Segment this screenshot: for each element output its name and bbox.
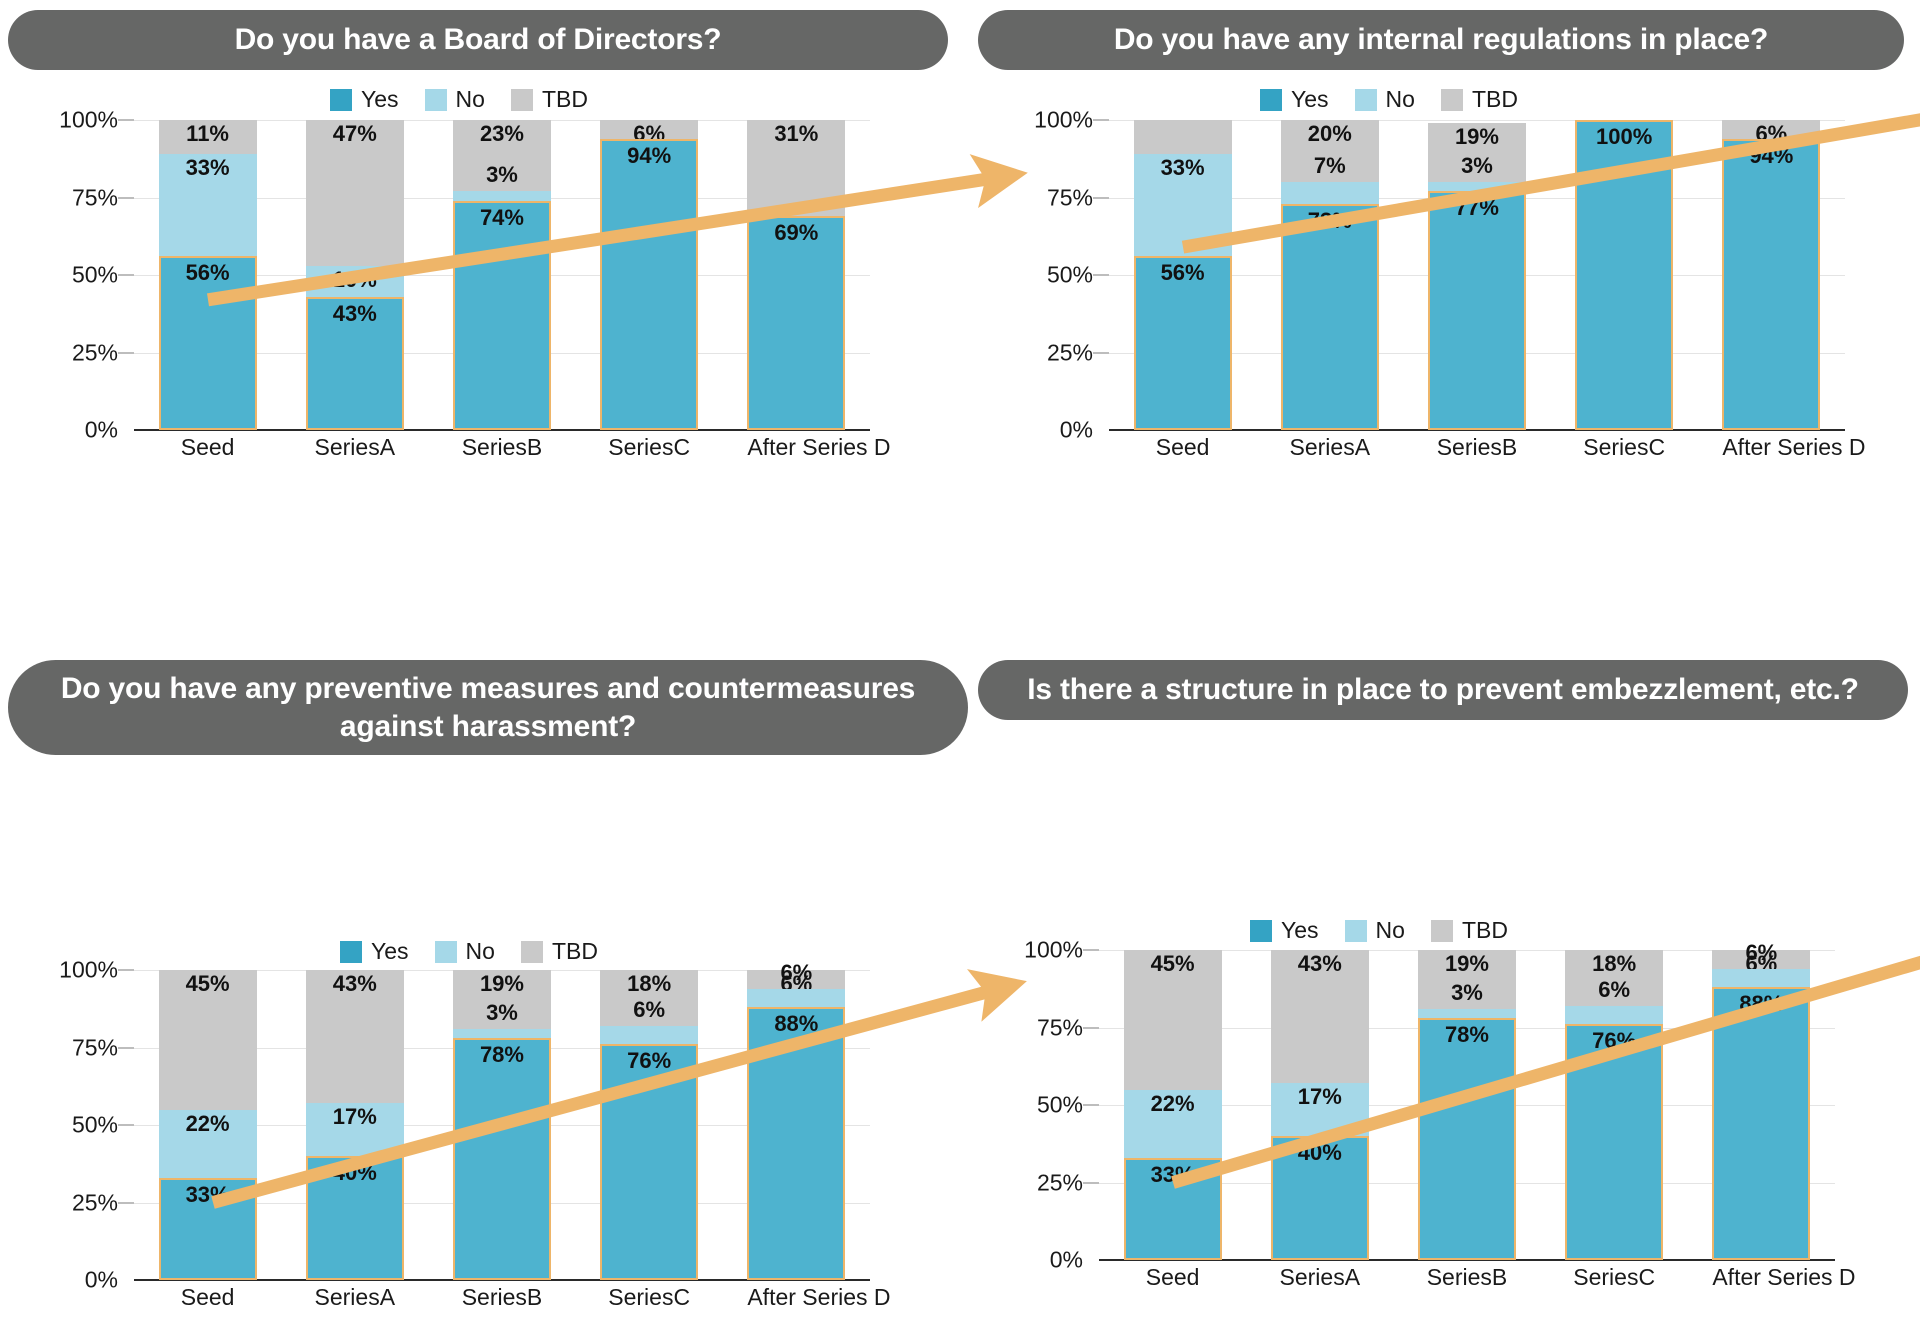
x-axis-tick-label: After Series D — [747, 1284, 845, 1311]
survey-dashboard: Do you have a Board of Directors? Yes No… — [0, 0, 1920, 1342]
bar-column[interactable]: 19%3%78% — [1418, 950, 1516, 1260]
bar-segment-no[interactable]: 22% — [1124, 1090, 1222, 1158]
bar-segment-label: 23% — [480, 123, 524, 145]
bar-segment-no[interactable]: 6% — [600, 1026, 698, 1045]
bar-segment-yes[interactable]: 69% — [747, 216, 845, 430]
x-axis-tick-label: After Series D — [1722, 434, 1820, 461]
y-axis-tick-mark — [118, 274, 134, 276]
bar-segment-label: 31% — [774, 123, 818, 145]
x-axis-tick-label: SeriesB — [453, 1284, 551, 1311]
bar-segment-no[interactable]: 3% — [453, 191, 551, 200]
bar-segment-no[interactable]: 3% — [1418, 1009, 1516, 1018]
legend-item-no[interactable]: No — [1355, 86, 1415, 113]
y-axis-tick-mark — [1083, 1027, 1099, 1029]
y-axis-tick-mark — [118, 969, 134, 971]
grid-area: 45%22%33%43%17%40%19%3%78%18%6%76%6%6%88… — [134, 970, 870, 1280]
bar-segment-tbd[interactable]: 47% — [306, 120, 404, 266]
y-axis-tick-mark — [118, 197, 134, 199]
bar-segment-label: 56% — [186, 262, 230, 284]
bar-segment-label: 77% — [1455, 197, 1499, 219]
panel-title-3: Is there a structure in place to prevent… — [978, 660, 1908, 720]
x-axis-tick-label: SeriesC — [1565, 1264, 1663, 1291]
y-axis-tick-mark — [1083, 1104, 1099, 1106]
legend-item-yes[interactable]: Yes — [1250, 917, 1319, 944]
bar-segment-label: 22% — [186, 1113, 230, 1135]
legend-item-yes[interactable]: Yes — [330, 86, 399, 113]
y-axis-tick-mark — [118, 1202, 134, 1204]
bar-segment-label: 78% — [480, 1044, 524, 1066]
y-axis: 0%25%50%75%100% — [40, 120, 130, 430]
chart-panel-embezzlement-prevention: Is there a structure in place to prevent… — [960, 660, 1920, 1342]
bar-segment-no[interactable]: 10% — [306, 266, 404, 297]
bar-segment-label: 18% — [1592, 953, 1636, 975]
grid-area: 33%56%20%7%73%19%3%77%100%6%94% — [1109, 120, 1845, 430]
plot-area-2: 0%25%50%75%100%45%22%33%43%17%40%19%3%78… — [40, 970, 870, 1330]
bar-segment-no[interactable]: 6% — [1712, 969, 1810, 988]
y-axis-tick-mark — [1093, 352, 1109, 354]
bar-group: 45%22%33%43%17%40%19%3%78%18%6%76%6%6%88… — [134, 970, 870, 1280]
bar-segment-yes[interactable]: 94% — [1722, 139, 1820, 430]
bar-group: 33%56%20%7%73%19%3%77%100%6%94% — [1109, 120, 1845, 430]
panel-title-1: Do you have any internal regulations in … — [978, 10, 1904, 70]
legend-0: Yes No TBD — [330, 86, 588, 113]
bar-segment-tbd[interactable]: 6% — [600, 120, 698, 139]
bar-segment-label: 33% — [1161, 157, 1205, 179]
x-axis-tick-label: SeriesA — [1281, 434, 1379, 461]
grid-area: 45%22%33%43%17%40%19%3%78%18%6%76%6%6%88… — [1099, 950, 1835, 1260]
legend-swatch-yes-icon — [1250, 920, 1272, 942]
bar-segment-no[interactable]: 17% — [1271, 1083, 1369, 1136]
bar-column[interactable]: 45%22%33% — [1124, 950, 1222, 1260]
x-axis-tick-label: Seed — [159, 1284, 257, 1311]
x-axis-tick-label: SeriesA — [306, 434, 404, 461]
bar-segment-label: 3% — [486, 1002, 518, 1024]
bar-segment-label: 40% — [1298, 1142, 1342, 1164]
bar-segment-yes[interactable]: 56% — [1134, 256, 1232, 430]
bar-segment-label: 20% — [1308, 123, 1352, 145]
bar-column[interactable]: 6%6%88% — [1712, 950, 1810, 1260]
bar-segment-tbd[interactable]: 43% — [306, 970, 404, 1103]
bar-segment-no[interactable]: 17% — [306, 1103, 404, 1156]
legend-label-tbd: TBD — [1472, 86, 1518, 113]
legend-item-no[interactable]: No — [425, 86, 485, 113]
bar-column[interactable]: 43%17%40% — [306, 970, 404, 1280]
plot-area-0: 0%25%50%75%100%11%33%56%47%10%43%23%3%74… — [40, 120, 870, 480]
bar-segment-yes[interactable]: 88% — [747, 1007, 845, 1280]
legend-swatch-yes-icon — [340, 941, 362, 963]
x-axis: SeedSeriesASeriesBSeriesCAfter Series D — [134, 434, 870, 461]
x-axis-tick-label: After Series D — [1712, 1264, 1810, 1291]
bar-segment-label: 6% — [633, 999, 665, 1021]
legend-label-yes: Yes — [1291, 86, 1329, 113]
bar-segment-label: 94% — [1749, 145, 1793, 167]
legend-swatch-yes-icon — [1260, 89, 1282, 111]
bar-column[interactable]: 19%3%78% — [453, 970, 551, 1280]
x-axis-tick-label: SeriesB — [453, 434, 551, 461]
bar-segment-label: 22% — [1151, 1093, 1195, 1115]
legend-item-no[interactable]: No — [435, 938, 495, 965]
legend-3: Yes No TBD — [1250, 917, 1508, 944]
bar-segment-yes[interactable]: 77% — [1428, 191, 1526, 430]
chart-panel-harassment-measures: Do you have any preventive measures and … — [0, 660, 960, 1342]
y-axis-tick-label: 50% — [72, 1112, 118, 1139]
bar-segment-label: 33% — [186, 1184, 230, 1206]
legend-item-yes[interactable]: Yes — [340, 938, 409, 965]
bar-segment-label: 19% — [1455, 126, 1499, 148]
legend-swatch-tbd-icon — [511, 89, 533, 111]
bar-segment-label: 3% — [1451, 982, 1483, 1004]
bar-column[interactable]: 6%94% — [1722, 120, 1820, 430]
y-axis-tick-label: 100% — [59, 107, 118, 134]
legend-swatch-tbd-icon — [521, 941, 543, 963]
grid-area: 11%33%56%47%10%43%23%3%74%6%94%31%69% — [134, 120, 870, 430]
bar-segment-label: 33% — [186, 157, 230, 179]
x-axis: SeedSeriesASeriesBSeriesCAfter Series D — [134, 1284, 870, 1311]
y-axis-tick-label: 0% — [1060, 417, 1093, 444]
x-axis-tick-label: SeriesC — [600, 434, 698, 461]
bar-segment-yes[interactable]: 56% — [159, 256, 257, 430]
bar-segment-label: 40% — [333, 1162, 377, 1184]
bar-segment-label: 78% — [1445, 1024, 1489, 1046]
legend-item-tbd[interactable]: TBD — [521, 938, 598, 965]
bar-segment-tbd[interactable]: 31% — [747, 120, 845, 216]
bar-segment-label: 45% — [1151, 953, 1195, 975]
bar-segment-label: 88% — [1739, 993, 1783, 1015]
legend-item-no[interactable]: No — [1345, 917, 1405, 944]
y-axis-tick-label: 50% — [72, 262, 118, 289]
bar-segment-yes[interactable]: 76% — [1565, 1024, 1663, 1260]
y-axis-tick-label: 25% — [72, 339, 118, 366]
bar-segment-label: 56% — [1161, 262, 1205, 284]
legend-label-no: No — [456, 86, 485, 113]
bar-segment-label: 76% — [1592, 1030, 1636, 1052]
bar-segment-label: 33% — [1151, 1164, 1195, 1186]
legend-item-yes[interactable]: Yes — [1260, 86, 1329, 113]
legend-label-no: No — [1386, 86, 1415, 113]
x-axis-tick-label: Seed — [1134, 434, 1232, 461]
bar-column[interactable]: 47%10%43% — [306, 120, 404, 430]
panel-title-0: Do you have a Board of Directors? — [8, 10, 948, 70]
legend-label-no: No — [1376, 917, 1405, 944]
x-axis: SeedSeriesASeriesBSeriesCAfter Series D — [1099, 1264, 1835, 1291]
bar-column[interactable]: 20%7%73% — [1281, 120, 1379, 430]
bar-segment-yes[interactable]: 43% — [306, 297, 404, 430]
y-axis-tick-mark — [118, 1047, 134, 1049]
y-axis-tick-mark — [1093, 274, 1109, 276]
bar-segment-tbd[interactable]: 6% — [1722, 120, 1820, 139]
bar-segment-label: 43% — [333, 303, 377, 325]
legend-swatch-tbd-icon — [1441, 89, 1463, 111]
panel-title-2: Do you have any preventive measures and … — [8, 660, 968, 755]
bar-column[interactable]: 33%56% — [1134, 120, 1232, 430]
legend-swatch-no-icon — [1355, 89, 1377, 111]
y-axis-tick-label: 0% — [1050, 1247, 1083, 1274]
bar-column[interactable]: 100% — [1575, 120, 1673, 430]
bar-segment-label: 17% — [1298, 1086, 1342, 1108]
bar-segment-label: 45% — [186, 973, 230, 995]
bar-segment-no[interactable]: 6% — [747, 989, 845, 1008]
x-axis-tick-label: SeriesC — [600, 1284, 698, 1311]
bar-segment-tbd[interactable]: 45% — [159, 970, 257, 1110]
bar-group: 45%22%33%43%17%40%19%3%78%18%6%76%6%6%88… — [1099, 950, 1835, 1260]
y-axis-tick-mark — [118, 352, 134, 354]
y-axis-tick-mark — [1083, 949, 1099, 951]
bar-segment-label: 47% — [333, 123, 377, 145]
y-axis-tick-label: 100% — [59, 957, 118, 984]
bar-segment-label: 74% — [480, 207, 524, 229]
bar-segment-label: 19% — [480, 973, 524, 995]
bar-segment-label: 6% — [1598, 979, 1630, 1001]
y-axis-tick-label: 100% — [1034, 107, 1093, 134]
y-axis-tick-label: 0% — [85, 1267, 118, 1294]
y-axis-tick-label: 100% — [1024, 937, 1083, 964]
bar-segment-no[interactable]: 6% — [1565, 1006, 1663, 1025]
bar-column[interactable]: 6%94% — [600, 120, 698, 430]
x-axis-tick-label: SeriesB — [1418, 1264, 1516, 1291]
bar-segment-no[interactable]: 33% — [1134, 154, 1232, 256]
y-axis-tick-label: 25% — [1047, 339, 1093, 366]
bar-segment-label: 73% — [1308, 210, 1352, 232]
bar-group: 11%33%56%47%10%43%23%3%74%6%94%31%69% — [134, 120, 870, 430]
y-axis-tick-label: 0% — [85, 417, 118, 444]
y-axis-tick-label: 75% — [1037, 1014, 1083, 1041]
chart-panel-internal-regulations: Do you have any internal regulations in … — [960, 0, 1920, 600]
bar-segment-tbd[interactable]: 43% — [1271, 950, 1369, 1083]
legend-label-tbd: TBD — [1462, 917, 1508, 944]
bar-segment-label: 3% — [1461, 155, 1493, 177]
bar-segment-yes[interactable]: 76% — [600, 1044, 698, 1280]
legend-label-yes: Yes — [371, 938, 409, 965]
plot-area-3: 0%25%50%75%100%45%22%33%43%17%40%19%3%78… — [1005, 950, 1835, 1310]
y-axis: 0%25%50%75%100% — [40, 970, 130, 1280]
y-axis-tick-label: 75% — [1047, 184, 1093, 211]
y-axis-tick-mark — [1093, 197, 1109, 199]
bar-column[interactable]: 6%6%88% — [747, 970, 845, 1280]
bar-segment-no[interactable]: 7% — [1281, 182, 1379, 204]
y-axis-tick-label: 75% — [72, 1034, 118, 1061]
bar-segment-label: 88% — [774, 1013, 818, 1035]
bar-segment-label: 6% — [780, 962, 812, 984]
bar-segment-no[interactable]: 3% — [453, 1029, 551, 1038]
bar-segment-tbd[interactable]: 45% — [1124, 950, 1222, 1090]
legend-swatch-no-icon — [435, 941, 457, 963]
y-axis: 0%25%50%75%100% — [1005, 950, 1095, 1260]
bar-segment-no[interactable]: 33% — [159, 154, 257, 256]
legend-swatch-tbd-icon — [1431, 920, 1453, 942]
bar-segment-label: 94% — [627, 145, 671, 167]
bar-segment-yes[interactable]: 40% — [1271, 1136, 1369, 1260]
x-axis-tick-label: SeriesB — [1428, 434, 1526, 461]
bar-segment-label: 43% — [333, 973, 377, 995]
bar-segment-yes[interactable]: 33% — [159, 1178, 257, 1280]
bar-segment-no[interactable]: 22% — [159, 1110, 257, 1178]
plot-area-1: 0%25%50%75%100%33%56%20%7%73%19%3%77%100… — [1015, 120, 1845, 480]
x-axis-tick-label: SeriesA — [1271, 1264, 1369, 1291]
bar-segment-label: 6% — [1745, 942, 1777, 964]
legend-label-tbd: TBD — [552, 938, 598, 965]
bar-column[interactable]: 11%33%56% — [159, 120, 257, 430]
bar-segment-label: 19% — [1445, 953, 1489, 975]
x-axis: SeedSeriesASeriesBSeriesCAfter Series D — [1109, 434, 1845, 461]
y-axis-tick-mark — [1093, 119, 1109, 121]
bar-segment-no[interactable]: 3% — [1428, 182, 1526, 191]
x-axis-tick-label: Seed — [159, 434, 257, 461]
bar-segment-tbd[interactable] — [1134, 120, 1232, 154]
y-axis-tick-mark — [118, 119, 134, 121]
bar-segment-yes[interactable]: 40% — [306, 1156, 404, 1280]
x-axis-tick-label: Seed — [1124, 1264, 1222, 1291]
legend-label-yes: Yes — [1281, 917, 1319, 944]
y-axis: 0%25%50%75%100% — [1015, 120, 1105, 430]
bar-segment-label: 69% — [774, 222, 818, 244]
legend-1: Yes No TBD — [1260, 86, 1518, 113]
legend-item-tbd[interactable]: TBD — [1441, 86, 1518, 113]
bar-column[interactable]: 18%6%76% — [1565, 950, 1663, 1260]
x-axis-tick-label: SeriesA — [306, 1284, 404, 1311]
bar-segment-yes[interactable]: 78% — [453, 1038, 551, 1280]
bar-segment-yes[interactable]: 100% — [1575, 120, 1673, 430]
bar-column[interactable]: 45%22%33% — [159, 970, 257, 1280]
bar-column[interactable]: 18%6%76% — [600, 970, 698, 1280]
bar-segment-label: 3% — [486, 164, 518, 186]
legend-label-no: No — [466, 938, 495, 965]
bar-segment-label: 43% — [1298, 953, 1342, 975]
bar-segment-tbd[interactable]: 11% — [159, 120, 257, 154]
x-axis-tick-label: After Series D — [747, 434, 845, 461]
legend-2: Yes No TBD — [340, 938, 598, 965]
bar-segment-yes[interactable]: 74% — [453, 201, 551, 430]
bar-segment-label: 10% — [333, 269, 377, 291]
bar-column[interactable]: 43%17%40% — [1271, 950, 1369, 1260]
legend-item-tbd[interactable]: TBD — [1431, 917, 1508, 944]
y-axis-tick-label: 25% — [72, 1189, 118, 1216]
legend-swatch-no-icon — [1345, 920, 1367, 942]
bar-segment-label: 18% — [627, 973, 671, 995]
y-axis-tick-label: 50% — [1037, 1092, 1083, 1119]
bar-segment-yes[interactable]: 78% — [1418, 1018, 1516, 1260]
bar-segment-label: 11% — [186, 123, 229, 145]
legend-label-tbd: TBD — [542, 86, 588, 113]
legend-label-yes: Yes — [361, 86, 399, 113]
chart-panel-board-of-directors: Do you have a Board of Directors? Yes No… — [0, 0, 960, 600]
bar-segment-yes[interactable]: 33% — [1124, 1158, 1222, 1260]
bar-segment-label: 7% — [1314, 155, 1346, 177]
bar-segment-yes[interactable]: 88% — [1712, 987, 1810, 1260]
y-axis-tick-label: 50% — [1047, 262, 1093, 289]
bar-segment-yes[interactable]: 94% — [600, 139, 698, 430]
y-axis-tick-mark — [118, 1124, 134, 1126]
bar-segment-label: 100% — [1596, 126, 1652, 148]
bar-segment-label: 76% — [627, 1050, 671, 1072]
y-axis-tick-label: 75% — [72, 184, 118, 211]
y-axis-tick-mark — [1083, 1182, 1099, 1184]
y-axis-tick-label: 25% — [1037, 1169, 1083, 1196]
legend-swatch-yes-icon — [330, 89, 352, 111]
bar-column[interactable]: 23%3%74% — [453, 120, 551, 430]
x-axis-tick-label: SeriesC — [1575, 434, 1673, 461]
bar-column[interactable]: 31%69% — [747, 120, 845, 430]
legend-swatch-no-icon — [425, 89, 447, 111]
bar-segment-yes[interactable]: 73% — [1281, 204, 1379, 430]
legend-item-tbd[interactable]: TBD — [511, 86, 588, 113]
bar-column[interactable]: 19%3%77% — [1428, 120, 1526, 430]
bar-segment-label: 17% — [333, 1106, 377, 1128]
